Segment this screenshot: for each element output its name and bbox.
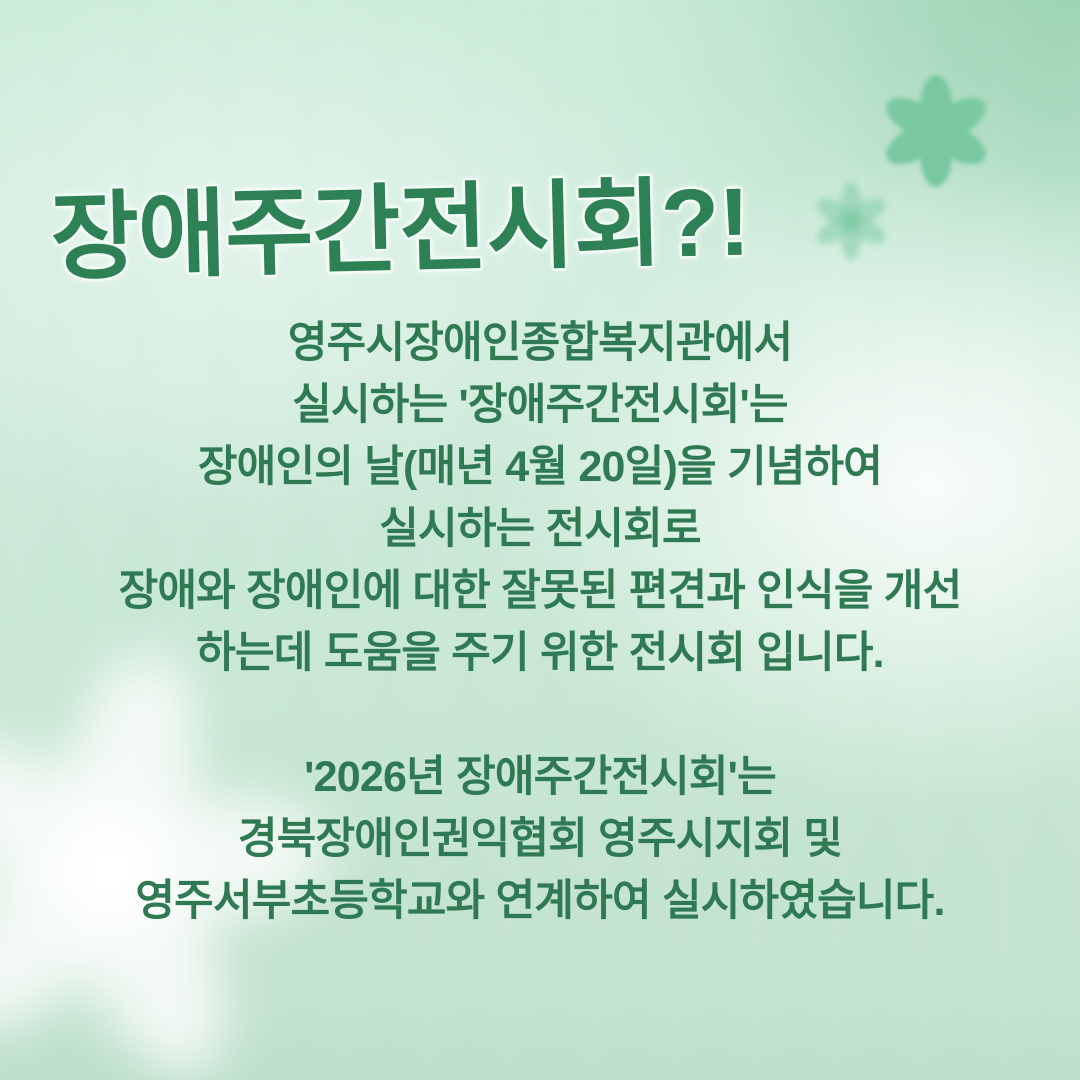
page-title: 장애주간전시회?!: [50, 171, 872, 288]
paragraph-1: 영주시장애인종합복지관에서 실시하는 '장애주간전시회'는 장애인의 날(매년 …: [18, 312, 1062, 684]
text-line: 영주서부초등학교와 연계하여 실시하였습니다.: [18, 870, 1062, 932]
paragraph-2: '2026년 장애주간전시회'는 경북장애인권익협회 영주시지회 및 영주서부초…: [18, 746, 1062, 932]
text-line: 경북장애인권익협회 영주시지회 및: [18, 808, 1062, 870]
text-line: 영주시장애인종합복지관에서: [18, 312, 1062, 374]
text-line: '2026년 장애주간전시회'는: [18, 746, 1062, 808]
text-line: 실시하는 전시회로: [18, 498, 1062, 560]
body-copy: 영주시장애인종합복지관에서 실시하는 '장애주간전시회'는 장애인의 날(매년 …: [0, 312, 1080, 932]
text-line: 실시하는 '장애주간전시회'는: [18, 374, 1062, 436]
text-line: 장애와 장애인에 대한 잘못된 편견과 인식을 개선: [18, 560, 1062, 622]
text-line: 장애인의 날(매년 4월 20일)을 기념하여: [18, 436, 1062, 498]
flower-large-icon: [877, 72, 995, 190]
text-line: 하는데 도움을 주기 위한 전시회 입니다.: [18, 622, 1062, 684]
poster-card: 장애주간전시회?! 영주시장애인종합복지관에서 실시하는 '장애주간전시회'는 …: [0, 0, 1080, 1080]
